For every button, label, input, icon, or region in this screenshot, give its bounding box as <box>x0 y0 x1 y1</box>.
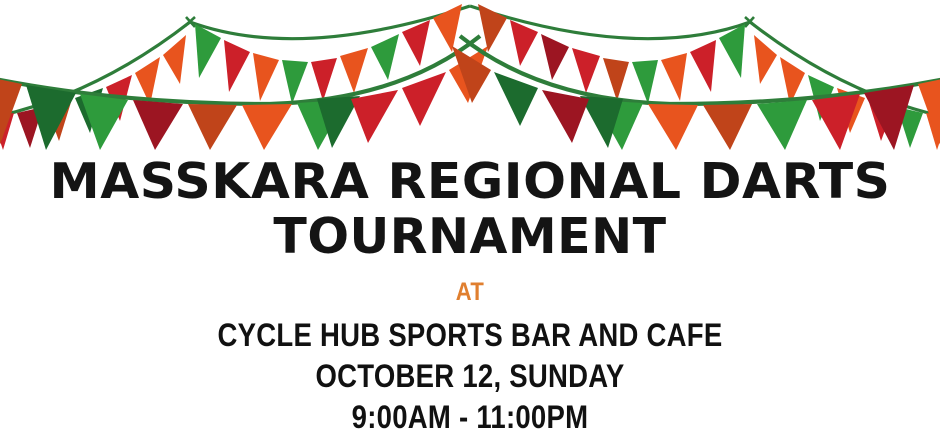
left-upper-strand <box>0 4 470 150</box>
pennant <box>594 100 643 150</box>
pennant <box>603 58 629 101</box>
date-text: OCTOBER 12, SUNDAY <box>66 356 874 397</box>
pennant <box>837 88 865 133</box>
pennant <box>253 53 279 101</box>
pennant <box>351 90 398 143</box>
pennant <box>661 53 687 101</box>
pennant <box>897 107 923 148</box>
pennant <box>0 113 14 150</box>
pennant <box>433 4 462 52</box>
pennant <box>224 40 250 92</box>
pennant <box>135 57 160 105</box>
left-lower-strand <box>0 36 488 150</box>
pennant <box>926 113 940 150</box>
pennant <box>510 20 538 66</box>
pennant <box>106 75 132 121</box>
pennant <box>195 24 221 78</box>
pennant <box>868 99 894 141</box>
pennant <box>808 75 834 121</box>
pennant <box>80 94 128 150</box>
pennant <box>17 107 43 148</box>
pennant <box>46 99 72 141</box>
pennant <box>282 60 308 104</box>
pennant <box>311 58 337 101</box>
bunting-knot-icon <box>745 17 755 27</box>
bunting-string <box>470 6 940 118</box>
pennant <box>703 104 752 150</box>
pennant <box>632 60 658 104</box>
pennant <box>402 20 430 66</box>
poster-text-block: MASSKARA REGIONAL DARTS TOURNAMENT AT CY… <box>0 150 940 438</box>
pennant <box>754 35 777 84</box>
pennant <box>542 90 589 143</box>
page-title-line-2: TOURNAMENT <box>0 212 940 261</box>
right-upper-strand <box>470 4 940 150</box>
page-title-line-1: MASSKARA REGIONAL DARTS <box>0 157 940 206</box>
pennant <box>478 4 507 52</box>
pennant <box>690 40 716 92</box>
pennant <box>163 35 186 84</box>
poster-canvas: MASSKARA REGIONAL DARTS TOURNAMENT AT CY… <box>0 0 940 447</box>
pennant <box>317 96 360 148</box>
pennant <box>494 72 538 126</box>
pennant <box>242 104 292 150</box>
bunting-string <box>460 36 940 104</box>
pennant <box>371 34 399 80</box>
pennant <box>340 48 368 93</box>
pennant <box>719 24 745 78</box>
pennant <box>402 72 446 126</box>
pennant <box>780 57 805 105</box>
bunting-knot-icon <box>185 17 195 27</box>
time-text: 9:00AM - 11:00PM <box>66 397 874 438</box>
pennant <box>648 104 698 150</box>
bunting-string <box>0 36 480 104</box>
pennant <box>0 77 22 150</box>
at-label: AT <box>56 278 883 307</box>
venue-text: CYCLE HUB SPORTS BAR AND CAFE <box>66 315 874 356</box>
pennant <box>297 100 346 150</box>
pennant <box>864 85 914 150</box>
pennant <box>757 100 807 150</box>
pennant <box>580 96 623 148</box>
pennant <box>541 34 569 80</box>
bunting-svg <box>0 0 940 150</box>
pennant <box>572 48 600 93</box>
pennant <box>188 104 237 150</box>
pennant <box>75 88 103 133</box>
pennant <box>133 100 183 150</box>
pennant <box>26 85 76 150</box>
bunting-decoration <box>0 0 940 150</box>
right-lower-strand <box>452 36 940 150</box>
bunting-string <box>0 6 470 118</box>
pennant <box>918 77 940 150</box>
pennant <box>449 46 488 103</box>
pennant <box>812 94 860 150</box>
pennant <box>452 46 491 103</box>
